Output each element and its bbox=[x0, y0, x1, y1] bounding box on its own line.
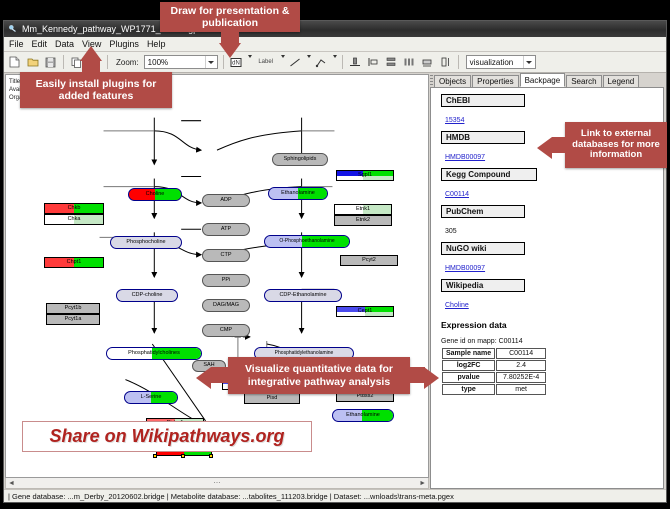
node-label: Phosphatidylcholines bbox=[128, 351, 180, 357]
node-atp[interactable]: ATP bbox=[202, 223, 250, 236]
same-width-icon[interactable] bbox=[420, 54, 435, 70]
stack-icon[interactable] bbox=[384, 54, 399, 70]
line-icon[interactable] bbox=[288, 54, 303, 70]
node-label: DAG/MAG bbox=[213, 303, 239, 309]
node-label: CTP bbox=[221, 253, 232, 259]
tabstrip-grip-icon[interactable] bbox=[430, 75, 433, 86]
node-adp[interactable]: ADP bbox=[202, 194, 250, 207]
distribute-icon[interactable] bbox=[402, 54, 417, 70]
node-sphingolipids[interactable]: Sphingolipids bbox=[272, 153, 328, 166]
gene-chka[interactable]: Chka bbox=[44, 214, 104, 225]
scroll-right-arrow[interactable]: ► bbox=[419, 480, 426, 487]
node-label: Cept1 bbox=[358, 309, 373, 315]
label-dropdown-icon[interactable] bbox=[280, 58, 285, 67]
node-phosphatidylcholines[interactable]: Phosphatidylcholines bbox=[106, 347, 202, 360]
callout-link-stem bbox=[552, 137, 568, 153]
node-label: Sphingolipids bbox=[284, 157, 317, 163]
node-label: CDP-choline bbox=[132, 293, 163, 299]
open-folder-icon[interactable] bbox=[25, 54, 40, 70]
table-row: pvalue 7.80252E-4 bbox=[442, 372, 546, 383]
node-label: L-Serine bbox=[141, 395, 162, 401]
expr-val-log2fc: 2.4 bbox=[496, 360, 546, 371]
node-ppi[interactable]: PPi bbox=[202, 274, 250, 287]
toolbar-separator bbox=[107, 55, 108, 69]
toolbar-separator bbox=[342, 55, 343, 69]
table-row: type met bbox=[442, 384, 546, 395]
node-label: ATP bbox=[221, 227, 231, 233]
node-choline-top[interactable]: Choline bbox=[128, 188, 182, 201]
table-row: log2FC 2.4 bbox=[442, 360, 546, 371]
selection-handle-sw[interactable] bbox=[153, 454, 157, 458]
node-label: Chkb bbox=[68, 206, 81, 212]
visualization-value: visualization bbox=[470, 58, 514, 67]
node-label: ADP bbox=[220, 198, 231, 204]
expr-val-type: met bbox=[496, 384, 546, 395]
db-header-nugo-wiki: NuGO wiki bbox=[441, 242, 525, 255]
side-panel-tabstrip: Objects Properties Backpage Search Legen… bbox=[430, 74, 664, 88]
node-label: Ethanolamine bbox=[346, 413, 380, 419]
menu-help[interactable]: Help bbox=[147, 39, 166, 49]
db-header-pubchem: PubChem bbox=[441, 205, 525, 218]
svg-text:dN: dN bbox=[232, 60, 240, 66]
node-label: Chka bbox=[68, 217, 81, 223]
tab-search[interactable]: Search bbox=[566, 75, 601, 87]
visualization-combo[interactable]: visualization bbox=[466, 55, 536, 69]
align-left-icon[interactable] bbox=[366, 54, 381, 70]
status-bar: | Gene database: ...m_Derby_20120602.bri… bbox=[4, 489, 666, 502]
node-phosphocholine[interactable]: Phosphocholine bbox=[110, 236, 182, 249]
callout-visualize-stem-left bbox=[211, 367, 229, 383]
tab-objects[interactable]: Objects bbox=[434, 75, 471, 87]
callout-visualize-stem-right bbox=[409, 367, 425, 383]
node-cmp[interactable]: CMP bbox=[202, 324, 250, 337]
tab-legend[interactable]: Legend bbox=[603, 75, 640, 87]
menu-file[interactable]: File bbox=[9, 39, 24, 49]
node-label: Phosphatidylethanolamine bbox=[275, 351, 334, 356]
gene-sgpl1[interactable]: Sgpl1 bbox=[336, 170, 394, 181]
expr-key-pvalue: pvalue bbox=[442, 372, 495, 383]
node-label: Etnk1 bbox=[356, 207, 370, 213]
node-ethanolamine-top[interactable]: Ethanolamine bbox=[268, 187, 328, 200]
menu-bar: File Edit Data View Plugins Help bbox=[4, 37, 666, 52]
same-height-icon[interactable] bbox=[438, 54, 453, 70]
pathvisio-icon bbox=[8, 24, 18, 34]
db-link-chebi[interactable]: 15354 bbox=[445, 117, 464, 124]
node-ethanolamine-right[interactable]: Ethanolamine bbox=[332, 409, 394, 422]
canvas-horizontal-scrollbar[interactable]: ◄ ⋯ ► bbox=[5, 478, 429, 489]
expression-data-title: Expression data bbox=[441, 320, 663, 330]
share-on-wikipathways-banner: Share on Wikipathways.org bbox=[22, 421, 312, 452]
gene-pcyt2[interactable]: Pcyt2 bbox=[340, 255, 398, 266]
label-button-text: Label bbox=[258, 59, 273, 65]
status-bar-text: | Gene database: ...m_Derby_20120602.bri… bbox=[8, 492, 454, 501]
gene-chkb[interactable]: Chkb bbox=[44, 203, 104, 214]
interaction-icon[interactable] bbox=[314, 54, 329, 70]
selection-handle-se[interactable] bbox=[209, 454, 213, 458]
callout-link-arrow-icon bbox=[537, 137, 552, 159]
node-label: Pisd bbox=[267, 396, 278, 402]
callout-link-external-databases: Link to external databases for more info… bbox=[565, 122, 667, 168]
callout-visualize-arrow-right-icon bbox=[424, 367, 439, 389]
node-label: PPi bbox=[222, 278, 231, 284]
db-header-hmdb: HMDB bbox=[441, 131, 525, 144]
gene-id-on-mapp: Gene id on mapp: C00114 bbox=[441, 338, 663, 345]
align-bottom-icon[interactable] bbox=[348, 54, 363, 70]
gene-etnk1[interactable]: Etnk1 bbox=[334, 204, 392, 215]
window-titlebar: Mm_Kennedy_pathway_WP1771_45176.gpml bbox=[4, 21, 666, 37]
node-label: O-Phosphoethanolamine bbox=[279, 239, 334, 244]
zoom-value: 100% bbox=[148, 58, 168, 67]
label-icon[interactable]: Label bbox=[255, 54, 277, 70]
line-dropdown-icon[interactable] bbox=[306, 58, 311, 67]
callout-visualize-arrow-left-icon bbox=[196, 367, 211, 389]
selection-handle-s[interactable] bbox=[181, 454, 185, 458]
callout-draw-arrow-icon bbox=[219, 43, 241, 58]
callout-plugins-arrow-icon bbox=[80, 46, 102, 61]
expr-key-log2fc: log2FC bbox=[442, 360, 495, 371]
node-cdp-choline[interactable]: CDP-choline bbox=[116, 289, 178, 302]
toolbar-separator bbox=[63, 55, 64, 69]
gene-cept1[interactable]: Cept1 bbox=[336, 306, 394, 317]
node-dag-mag[interactable]: DAG/MAG bbox=[202, 299, 250, 312]
menu-plugins[interactable]: Plugins bbox=[109, 39, 139, 49]
node-label: Pcyt2 bbox=[362, 258, 376, 264]
callout-easily-install-plugins: Easily install plugins for added feature… bbox=[20, 72, 172, 108]
db-header-wikipedia: Wikipedia bbox=[441, 279, 525, 292]
expr-key-type: type bbox=[442, 384, 495, 395]
node-label: Pcyt1a bbox=[65, 317, 82, 323]
menu-data[interactable]: Data bbox=[55, 39, 74, 49]
expr-val-pvalue: 7.80252E-4 bbox=[496, 372, 546, 383]
node-cdp-ethanolamine[interactable]: CDP-Ethanolamine bbox=[264, 289, 342, 302]
node-label: CDP-Ethanolamine bbox=[279, 293, 326, 299]
tab-properties[interactable]: Properties bbox=[472, 75, 518, 87]
node-label: CMP bbox=[220, 328, 232, 334]
new-document-icon[interactable] bbox=[7, 54, 22, 70]
tab-backpage[interactable]: Backpage bbox=[520, 73, 566, 87]
node-ctp[interactable]: CTP bbox=[202, 249, 250, 262]
callout-draw-for-publication: Draw for presentation & publication bbox=[160, 2, 300, 32]
gene-chpt1[interactable]: Chpt1 bbox=[44, 257, 104, 268]
node-label: Ethanolamine bbox=[281, 191, 315, 197]
scroll-left-arrow[interactable]: ◄ bbox=[8, 480, 15, 487]
zoom-combo[interactable]: 100% bbox=[144, 55, 218, 69]
save-disk-icon[interactable] bbox=[43, 54, 58, 70]
node-label: Phosphocholine bbox=[126, 240, 165, 246]
table-row: Sample name C00114 bbox=[442, 348, 546, 359]
node-o-phosphoethanolamine[interactable]: O-Phosphoethanolamine bbox=[264, 235, 350, 248]
db-link-nugo-wiki[interactable]: HMDB00097 bbox=[445, 265, 485, 272]
gene-pcyt1b[interactable]: Pcyt1b bbox=[46, 303, 100, 314]
chevron-down-icon[interactable] bbox=[523, 56, 535, 68]
datanode-dropdown-icon[interactable] bbox=[247, 58, 252, 67]
node-label: Sgpl1 bbox=[358, 173, 372, 179]
menu-edit[interactable]: Edit bbox=[32, 39, 48, 49]
gene-pcyt1a[interactable]: Pcyt1a bbox=[46, 314, 100, 325]
db-value-pubchem: 305 bbox=[445, 228, 457, 235]
node-l-serine-left[interactable]: L-Serine bbox=[124, 391, 178, 404]
node-label: Etnk2 bbox=[356, 218, 370, 224]
expr-key-sample-name: Sample name bbox=[442, 348, 495, 359]
pathway-canvas[interactable]: Title: Availa Organi bbox=[5, 74, 429, 478]
callout-visualize-quantitative-data: Visualize quantitative data for integrat… bbox=[228, 357, 410, 394]
node-label: Choline bbox=[146, 192, 165, 198]
interaction-dropdown-icon[interactable] bbox=[332, 58, 337, 67]
expr-val-sample-name: C00114 bbox=[496, 348, 546, 359]
gene-pisd[interactable]: Pisd bbox=[244, 393, 300, 404]
db-link-kegg-compound[interactable]: C00114 bbox=[445, 191, 469, 198]
node-label: Ptdss2 bbox=[357, 394, 374, 400]
node-label: Pcyt1b bbox=[65, 306, 82, 312]
zoom-label: Zoom: bbox=[116, 58, 139, 67]
toolbar-separator bbox=[458, 55, 459, 69]
expression-data-table: Sample name C00114 log2FC 2.4 pvalue 7.8… bbox=[441, 347, 547, 396]
db-header-chebi: ChEBI bbox=[441, 94, 525, 107]
scroll-thumb-grip[interactable]: ⋯ bbox=[214, 479, 221, 487]
chevron-down-icon[interactable] bbox=[205, 56, 217, 68]
db-link-hmdb[interactable]: HMDB00097 bbox=[445, 154, 485, 161]
gene-etnk2[interactable]: Etnk2 bbox=[334, 215, 392, 226]
main-toolbar: Zoom: 100% dN Label bbox=[4, 52, 666, 73]
db-header-kegg-compound: Kegg Compound bbox=[441, 168, 537, 181]
db-link-wikipedia[interactable]: Choline bbox=[445, 302, 469, 309]
node-label: Chpt1 bbox=[67, 260, 82, 266]
